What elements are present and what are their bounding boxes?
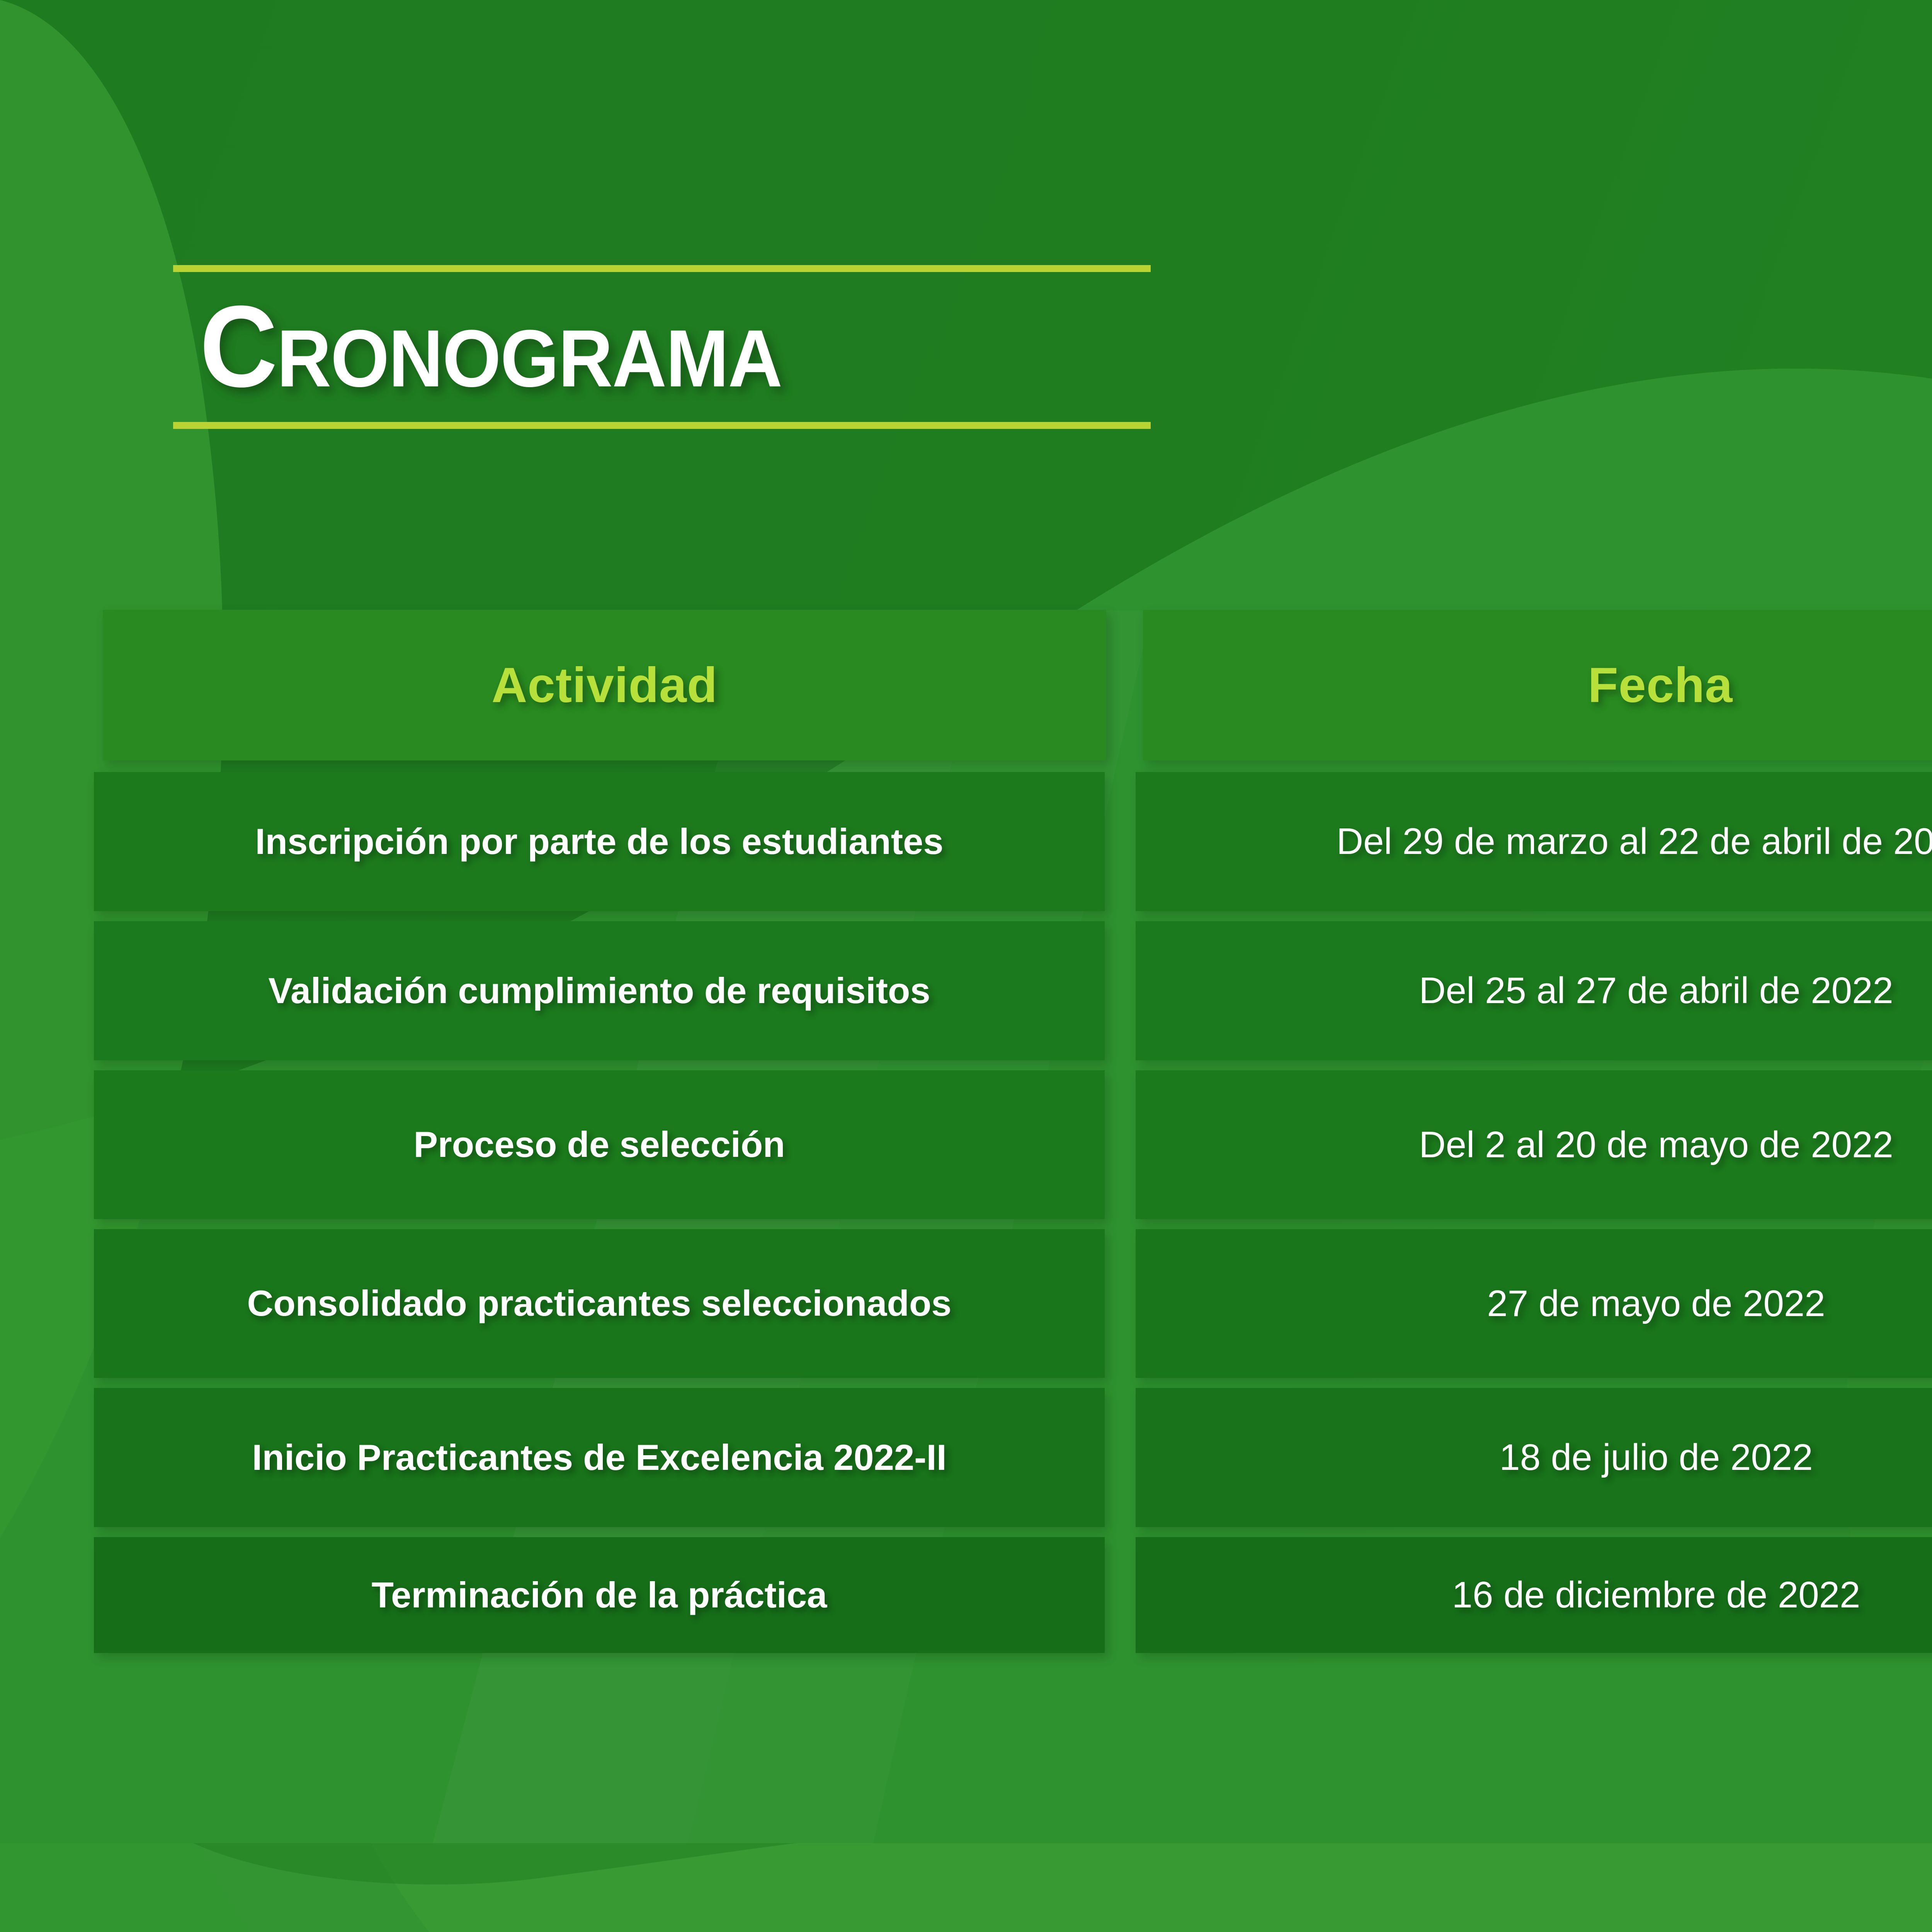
title-top-rule — [173, 265, 1151, 272]
activity-text: Inscripción por parte de los estudiantes — [232, 820, 966, 864]
table-row: Consolidado practicantes seleccionados 2… — [0, 1229, 1932, 1378]
activity-cell: Inicio Practicantes de Excelencia 2022-I… — [94, 1388, 1105, 1527]
activity-cell: Proceso de selección — [94, 1070, 1105, 1219]
activity-text: Inicio Practicantes de Excelencia 2022-I… — [229, 1436, 969, 1480]
date-text: Del 29 de marzo al 22 de abril de 2022 — [1313, 819, 1932, 864]
activity-text: Terminación de la práctica — [349, 1573, 850, 1617]
table-row: Proceso de selección Del 2 al 20 de mayo… — [0, 1070, 1932, 1219]
activity-cell: Validación cumplimiento de requisitos — [94, 921, 1105, 1060]
date-cell: Del 25 al 27 de abril de 2022 — [1136, 921, 1932, 1060]
table-row: Inscripción por parte de los estudiantes… — [0, 772, 1932, 911]
date-cell: 16 de diciembre de 2022 — [1136, 1537, 1932, 1653]
title-bottom-rule — [173, 422, 1151, 429]
column-header-actividad-label: Actividad — [492, 657, 718, 714]
column-header-fecha-label: Fecha — [1588, 657, 1733, 714]
column-header-actividad: Actividad — [103, 610, 1106, 760]
table-row: Terminación de la práctica 16 de diciemb… — [0, 1537, 1932, 1653]
activity-text: Proceso de selección — [390, 1123, 808, 1167]
date-cell: Del 29 de marzo al 22 de abril de 2022 — [1136, 772, 1932, 911]
date-text: 18 de julio de 2022 — [1476, 1435, 1836, 1480]
date-text: Del 2 al 20 de mayo de 2022 — [1396, 1122, 1917, 1167]
date-cell: 27 de mayo de 2022 — [1136, 1229, 1932, 1378]
schedule-table: Actividad Fecha Inscripción por parte de… — [0, 610, 1932, 1663]
activity-text: Consolidado practicantes seleccionados — [224, 1282, 975, 1325]
date-text: 27 de mayo de 2022 — [1464, 1281, 1848, 1326]
page-title: Cronograma — [173, 272, 1082, 422]
column-header-fecha: Fecha — [1143, 610, 1932, 760]
poster-root: Cronograma Actividad Fecha Inscripción p… — [0, 0, 1932, 1932]
title-block: Cronograma — [173, 265, 1151, 429]
date-cell: 18 de julio de 2022 — [1136, 1388, 1932, 1527]
activity-cell: Inscripción por parte de los estudiantes — [94, 772, 1105, 911]
activity-cell: Consolidado practicantes seleccionados — [94, 1229, 1105, 1378]
date-cell: Del 2 al 20 de mayo de 2022 — [1136, 1070, 1932, 1219]
date-text: Del 25 al 27 de abril de 2022 — [1396, 968, 1917, 1013]
activity-text: Validación cumplimiento de requisitos — [245, 969, 953, 1013]
activity-cell: Terminación de la práctica — [94, 1537, 1105, 1653]
date-text: 16 de diciembre de 2022 — [1429, 1572, 1884, 1617]
table-header-row: Actividad Fecha — [0, 610, 1932, 760]
table-row: Validación cumplimiento de requisitos De… — [0, 921, 1932, 1060]
table-row: Inicio Practicantes de Excelencia 2022-I… — [0, 1388, 1932, 1527]
